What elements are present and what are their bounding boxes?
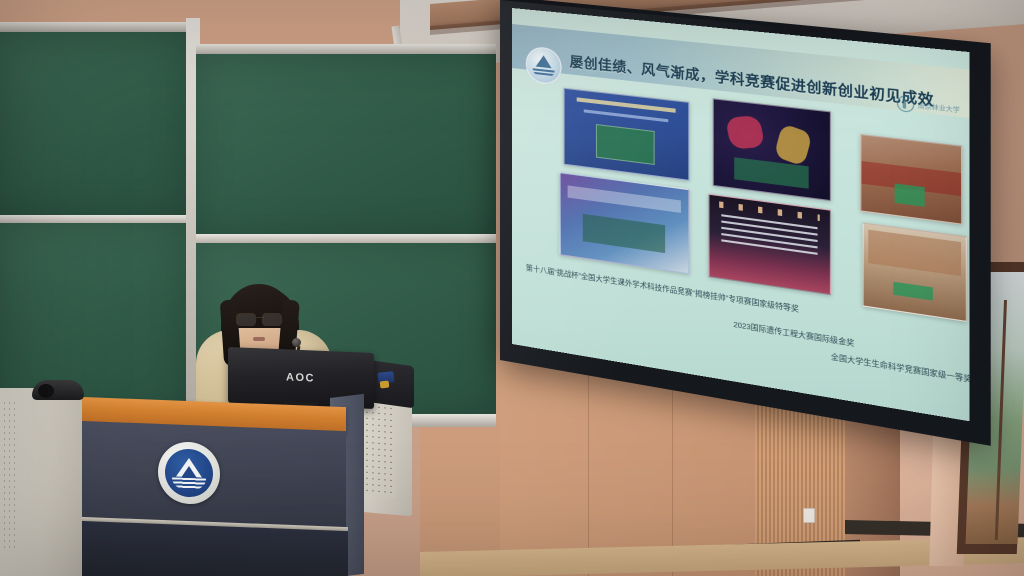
headphones: [32, 380, 84, 400]
photo-campus-entrance: [860, 134, 962, 225]
photo-igem-ceremony: [713, 98, 831, 201]
wall-outlet: [803, 508, 815, 523]
slide-caption-3: 全国大学生生命科学竞赛国家级一等奖: [826, 350, 969, 386]
photo-award-group: [560, 172, 690, 274]
brand-label: 南京林业大学: [918, 100, 960, 114]
photo-team-banner: [863, 222, 967, 322]
lecture-hall-photo: 屡创佳绩、风气渐成，学科竞赛促进创新创业初见成效 南京林业大学: [0, 0, 1024, 576]
monitor-brand-label: AOC: [286, 371, 315, 384]
slide-caption-2: 2023国际遗传工程大赛国际级金奖: [706, 314, 883, 354]
brand-mark-icon: [897, 95, 914, 113]
slide-brand-logo: 南京林业大学: [897, 95, 960, 118]
case-latch: [380, 381, 390, 389]
presenter-glasses: [236, 313, 282, 324]
university-triangle-wave-logo: [526, 45, 562, 85]
photo-challenge-cup-stage: [564, 88, 690, 181]
photo-leaderboard-hall: [708, 194, 831, 296]
cabinet-vent-grille: [2, 400, 16, 550]
presenter-mouth: [253, 337, 265, 341]
microphone: [292, 338, 301, 347]
